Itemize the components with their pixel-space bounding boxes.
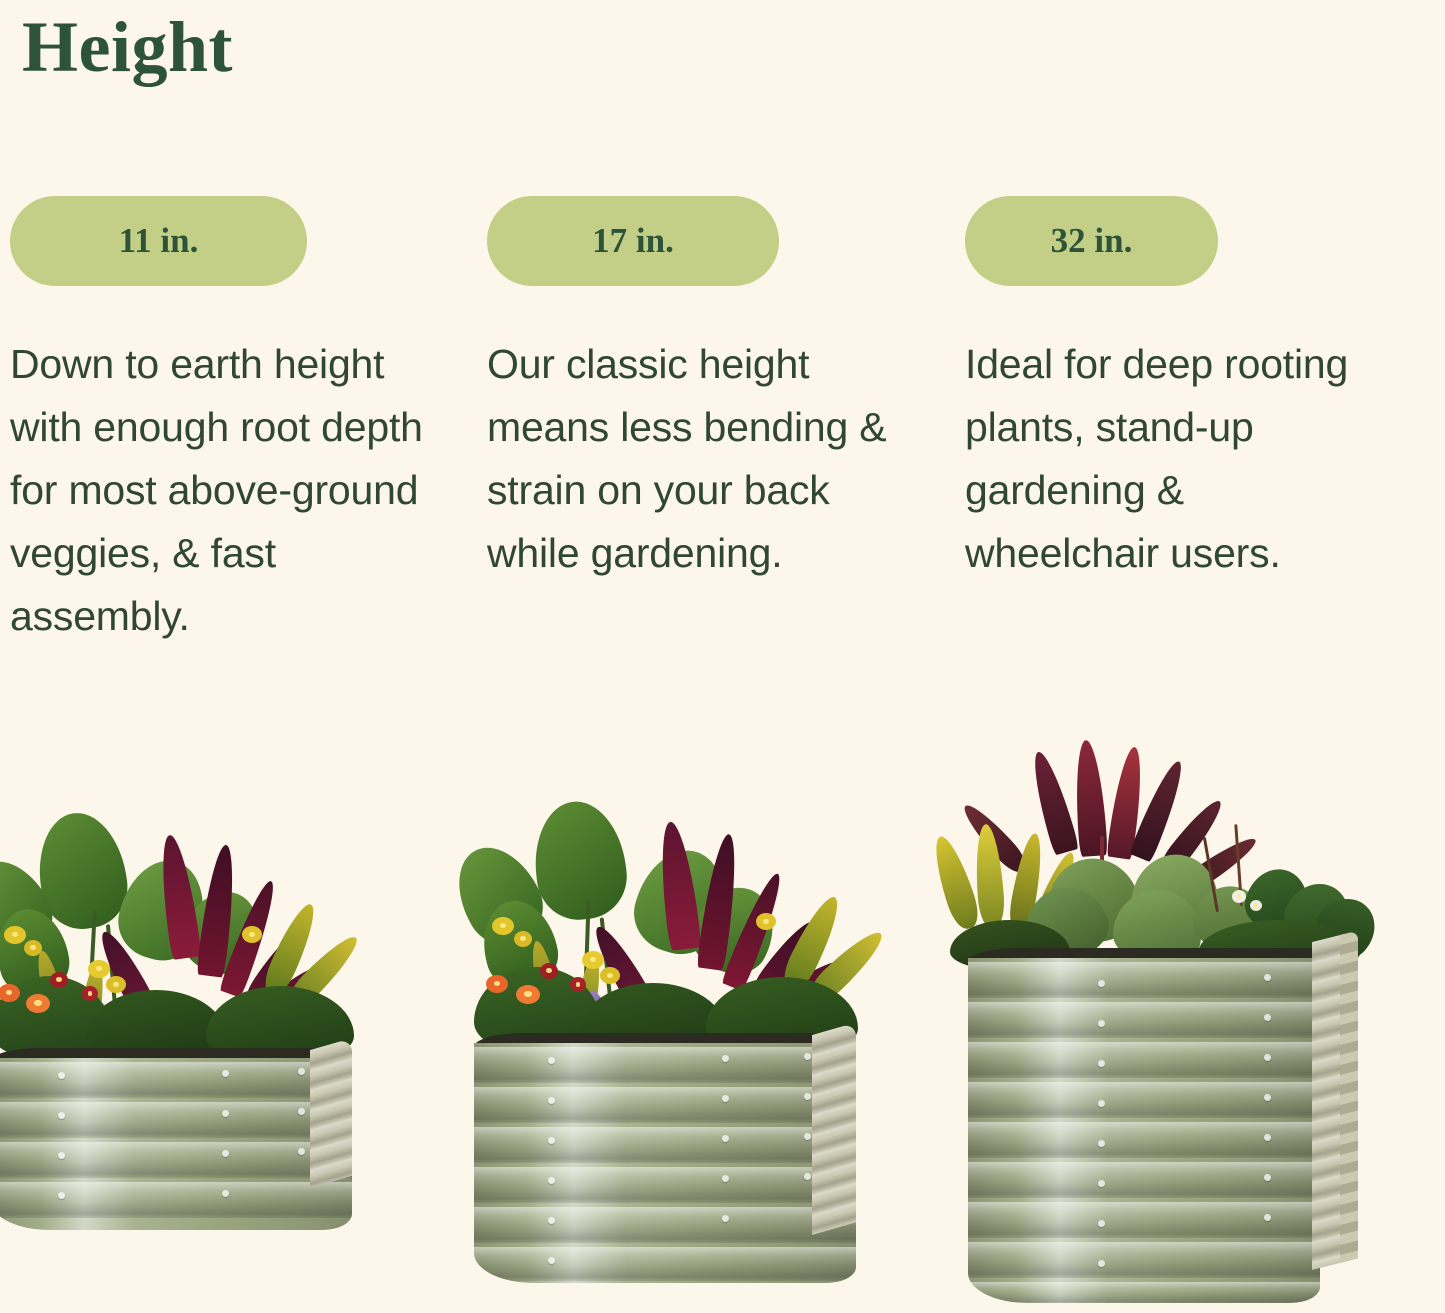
bed-rivet (222, 1190, 229, 1197)
bed-rivet (1264, 974, 1271, 981)
height-badge-32in[interactable]: 32 in. (965, 196, 1218, 286)
height-option-17in: 17 in. Our classic height means less ben… (487, 196, 907, 585)
bed-rivet (222, 1070, 229, 1077)
bed-rivet (222, 1150, 229, 1157)
height-option-32in: 32 in. Ideal for deep rooting plants, st… (965, 196, 1385, 585)
planter-image-17in: 17” tall (470, 795, 890, 1295)
raised-bed-box-11in (0, 1048, 352, 1240)
leaf-alocasia (528, 796, 632, 924)
bed-rivet (722, 1055, 729, 1062)
bed-rivet (548, 1257, 555, 1264)
bed-rivet (298, 1148, 305, 1155)
height-description-17in: Our classic height means less bending & … (487, 333, 887, 585)
flower-white (1232, 890, 1246, 903)
raised-bed-box-17in (474, 1033, 856, 1295)
bed-rivet (1264, 1054, 1271, 1061)
flower-yellow (492, 917, 514, 935)
height-option-11in: 11 in. Down to earth height with enough … (10, 196, 430, 648)
bed-front-panel (474, 1043, 856, 1283)
bed-rivet (1098, 1100, 1105, 1107)
bed-front-panel (968, 958, 1320, 1303)
height-badge-11in[interactable]: 11 in. (10, 196, 307, 286)
bed-rivet (722, 1095, 729, 1102)
flower-yellow (600, 967, 620, 984)
flower-yellow (756, 913, 776, 930)
bed-rivet (722, 1175, 729, 1182)
bed-rivet (548, 1217, 555, 1224)
bed-rivet (1264, 1214, 1271, 1221)
flower-yellow (514, 931, 532, 947)
bed-rivet (1264, 1174, 1271, 1181)
bed-rivet (1098, 1180, 1105, 1187)
bed-side-panel (310, 1038, 352, 1188)
flower-yellow (24, 940, 42, 956)
flower-white (1250, 900, 1262, 911)
flower-orange (516, 985, 540, 1004)
page-title: Height (22, 2, 233, 92)
planter-image-32in: 32” tall (950, 740, 1370, 1313)
height-comparison-page: Height 11 in. Down to earth height with … (0, 0, 1445, 1313)
bed-side-panel (812, 1022, 856, 1235)
bed-rivet (298, 1108, 305, 1115)
bed-rivet (804, 1133, 811, 1140)
bed-rivet (804, 1053, 811, 1060)
raised-bed-box-32in (968, 948, 1358, 1313)
bed-rivet (548, 1137, 555, 1144)
flower-red (570, 977, 586, 992)
bed-rivet (58, 1072, 65, 1079)
corrugation-ribs (0, 1058, 352, 1230)
height-description-32in: Ideal for deep rooting plants, stand-up … (965, 333, 1365, 585)
bed-side-panel (1312, 931, 1358, 1270)
planter-image-11in: 11” tall (0, 800, 390, 1270)
height-badge-17in[interactable]: 17 in. (487, 196, 779, 286)
bed-rivet (298, 1068, 305, 1075)
flower-red (50, 972, 68, 988)
flower-yellow (88, 960, 110, 978)
bed-rivet (222, 1110, 229, 1117)
bed-rivet (804, 1173, 811, 1180)
bed-rivet (722, 1215, 729, 1222)
corrugation-ribs (474, 1043, 856, 1283)
bed-rivet (1098, 1260, 1105, 1267)
flower-orange (26, 994, 50, 1013)
bed-rivet (58, 1192, 65, 1199)
bed-side-corrugation (1340, 931, 1358, 1263)
corrugation-ribs (968, 958, 1320, 1303)
flower-red (540, 963, 558, 979)
bed-rivet (1264, 1094, 1271, 1101)
bed-rivet (1264, 1014, 1271, 1021)
flower-orange (486, 975, 508, 993)
bed-rivet (1098, 1220, 1105, 1227)
flower-yellow (4, 926, 26, 944)
flower-red (82, 986, 98, 1001)
bed-rivet (1098, 980, 1105, 987)
bed-rivet (58, 1112, 65, 1119)
bed-rivet (548, 1097, 555, 1104)
bed-front-panel (0, 1058, 352, 1230)
bed-rivet (1098, 1060, 1105, 1067)
height-option-columns: 11 in. Down to earth height with enough … (0, 196, 1445, 716)
bed-rivet (804, 1093, 811, 1100)
bed-rivet (58, 1152, 65, 1159)
flower-yellow (582, 951, 604, 969)
bed-rivet (1098, 1140, 1105, 1147)
height-description-11in: Down to earth height with enough root de… (10, 333, 425, 648)
leaf-croton (927, 832, 983, 932)
bed-rivet (548, 1177, 555, 1184)
flower-yellow (242, 926, 262, 943)
bed-rivet (1264, 1134, 1271, 1141)
flower-yellow (106, 976, 126, 993)
bed-rivet (548, 1057, 555, 1064)
bed-rivet (722, 1135, 729, 1142)
bed-rivet (1098, 1020, 1105, 1027)
